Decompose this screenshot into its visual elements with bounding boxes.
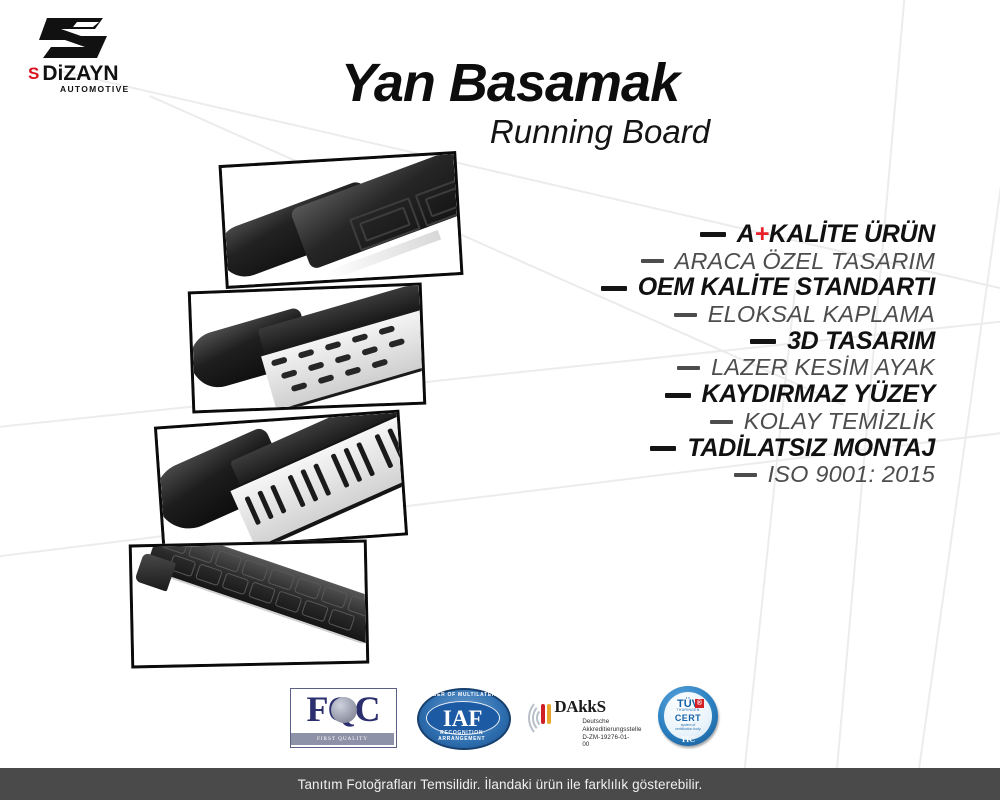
- feature-label-9: TADİLATSIZ MONTAJ: [687, 436, 935, 462]
- fqc-globe-icon: [331, 697, 357, 723]
- feature-label-3: OEM KALİTE STANDARTI: [638, 275, 935, 301]
- bullet-dash-icon: [641, 259, 664, 263]
- tuv-small-2: certification body: [658, 727, 718, 731]
- feature-item-2: ARACA ÖZEL TASARIM: [455, 250, 935, 274]
- page-title: Yan Basamak: [300, 56, 720, 110]
- bullet-dash-icon: [665, 393, 691, 398]
- bullet-dash-icon: [677, 366, 700, 370]
- feature-label-10: ISO 9001: 2015: [768, 463, 935, 487]
- certification-badges: FQC FIRST QUALITY CERTIFICATION MEMBER O…: [290, 683, 720, 751]
- dakks-line-2: Akkreditierungsstelle: [582, 726, 641, 733]
- dakks-red-bar: [541, 704, 545, 724]
- dakks-gold-bar: [547, 704, 551, 724]
- feature-item-7: KAYDIRMAZ YÜZEY: [455, 382, 935, 408]
- dakks-certification-logo: DAkkS Deutsche Akkreditierungsstelle D-Z…: [528, 688, 636, 746]
- bullet-dash-icon: [710, 420, 733, 424]
- iaf-certification-logo: MEMBER OF MULTILATERAL IAF RECOGNITION A…: [417, 688, 507, 746]
- brand-s-letter: S: [28, 65, 38, 82]
- feature-item-6: LAZER KESİM AYAK: [455, 356, 935, 380]
- bullet-dash-icon: [734, 473, 757, 477]
- feature-label-5: 3D TASARIM: [787, 329, 935, 355]
- feature-item-5: 3D TASARIM: [455, 329, 935, 355]
- dakks-name: DAkkS: [554, 697, 605, 717]
- dakks-line-3: D-ZM-19276-01-00: [582, 734, 636, 748]
- brand-name: DiZAYN: [42, 63, 118, 84]
- feature-item-8: KOLAY TEMİZLİK: [455, 410, 935, 434]
- page-subtitle: Running Board: [400, 115, 800, 148]
- product-photo-4: [129, 540, 370, 669]
- feature-item-3: OEM KALİTE STANDARTI: [455, 275, 935, 301]
- feature-item-10: ISO 9001: 2015: [455, 463, 935, 487]
- brand-tagline: AUTOMOTIVE: [60, 84, 130, 94]
- brand-logo: S DiZAYN AUTOMOTIVE: [28, 14, 158, 94]
- footer-disclaimer-text: Tanıtım Fotoğrafları Temsilidir. İlandak…: [298, 777, 703, 792]
- bullet-dash-icon: [700, 232, 726, 237]
- bullet-dash-icon: [674, 313, 697, 317]
- bullet-dash-icon: [601, 286, 627, 291]
- dakks-line-1: Deutsche: [582, 718, 609, 725]
- bullet-dash-icon: [750, 339, 776, 344]
- product-photo-3: [154, 410, 408, 553]
- feature-1-plus: +: [755, 220, 769, 248]
- tuv-region: THÜRINGEN: [658, 708, 718, 712]
- s-logo-icon: [37, 14, 115, 62]
- feature-label-6: LAZER KESİM AYAK: [711, 356, 935, 380]
- fqc-caption: FIRST QUALITY CERTIFICATION: [291, 733, 394, 745]
- bullet-dash-icon: [650, 446, 676, 451]
- tuv-cert-logo: TÜV ® THÜRINGEN CERT system of certifica…: [658, 686, 720, 748]
- tuv-tic-label: TIC: [658, 735, 718, 744]
- feature-1-suffix: KALİTE ÜRÜN: [769, 220, 935, 248]
- feature-item-1: A+KALİTE ÜRÜN: [455, 222, 935, 248]
- product-photo-2: [188, 283, 427, 414]
- iaf-arc-bottom: RECOGNITION ARRANGEMENT: [417, 730, 507, 742]
- feature-label-2: ARACA ÖZEL TASARIM: [675, 250, 935, 274]
- feature-label-7: KAYDIRMAZ YÜZEY: [702, 382, 935, 408]
- tuv-registered-mark: ®: [695, 699, 704, 708]
- feature-label-4: ELOKSAL KAPLAMA: [708, 303, 935, 327]
- fqc-certification-logo: FQC FIRST QUALITY CERTIFICATION: [290, 688, 395, 746]
- iaf-arc-top: MEMBER OF MULTILATERAL: [417, 692, 507, 698]
- product-photo-1: [219, 151, 464, 289]
- feature-label-8: KOLAY TEMİZLİK: [744, 410, 935, 434]
- poster-canvas: S DiZAYN AUTOMOTIVE Yan Basamak Running …: [0, 0, 1000, 800]
- tuv-cert-word: CERT: [658, 713, 718, 723]
- feature-label-1: A+KALİTE ÜRÜN: [737, 222, 935, 248]
- feature-item-9: TADİLATSIZ MONTAJ: [455, 436, 935, 462]
- brand-wordmark: S DiZAYN: [28, 64, 158, 83]
- iaf-letters: IAF: [443, 707, 483, 730]
- footer-disclaimer-bar: Tanıtım Fotoğrafları Temsilidir. İlandak…: [0, 768, 1000, 800]
- feature-list: A+KALİTE ÜRÜN ARACA ÖZEL TASARIM OEM KAL…: [455, 222, 935, 489]
- feature-1-prefix: A: [737, 220, 755, 248]
- feature-item-4: ELOKSAL KAPLAMA: [455, 303, 935, 327]
